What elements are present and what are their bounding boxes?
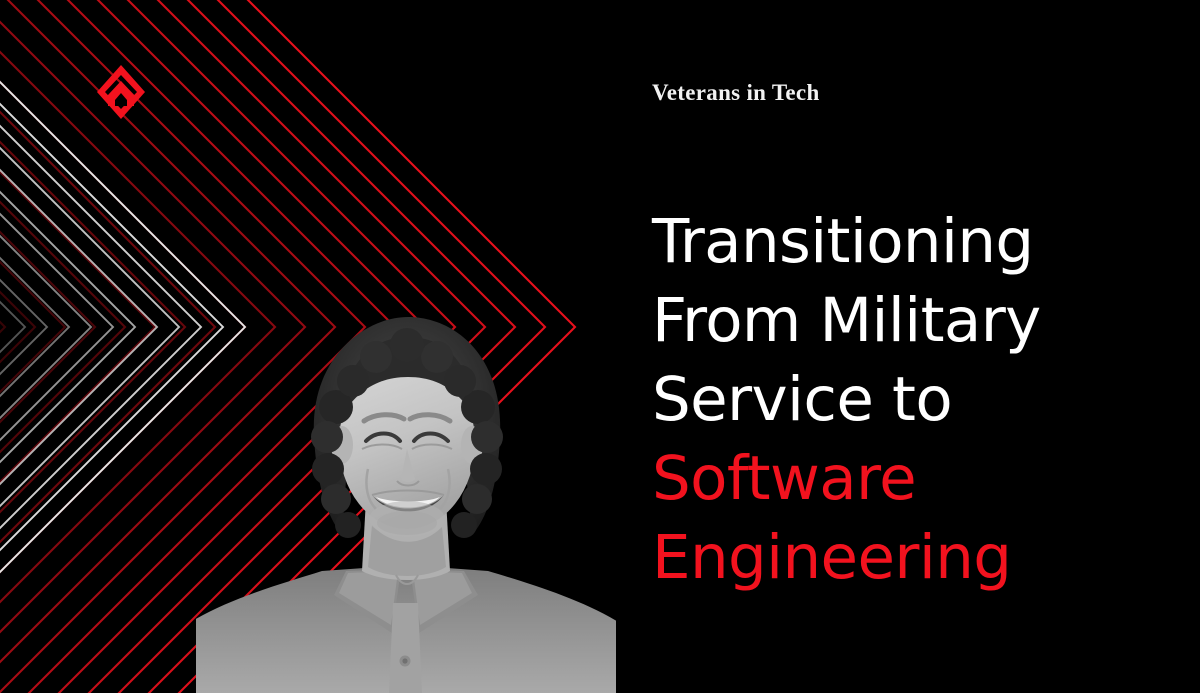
brand-logo-icon[interactable] — [96, 64, 146, 120]
headline-line-3: Service to — [652, 360, 1172, 439]
headline-line-1: Transitioning — [652, 202, 1172, 281]
hero-text-column: Veterans in Tech Transitioning From Mili… — [652, 0, 1172, 693]
speaker-portrait — [196, 303, 616, 693]
eyebrow-label: Veterans in Tech — [652, 80, 820, 106]
page-title: Transitioning From Military Service to S… — [652, 202, 1172, 597]
headline-line-2: From Military — [652, 281, 1172, 360]
headline-line-4-accent: Software — [652, 439, 1172, 518]
headline-line-5-accent: Engineering — [652, 518, 1172, 597]
hero-banner: Veterans in Tech Transitioning From Mili… — [0, 0, 1200, 693]
